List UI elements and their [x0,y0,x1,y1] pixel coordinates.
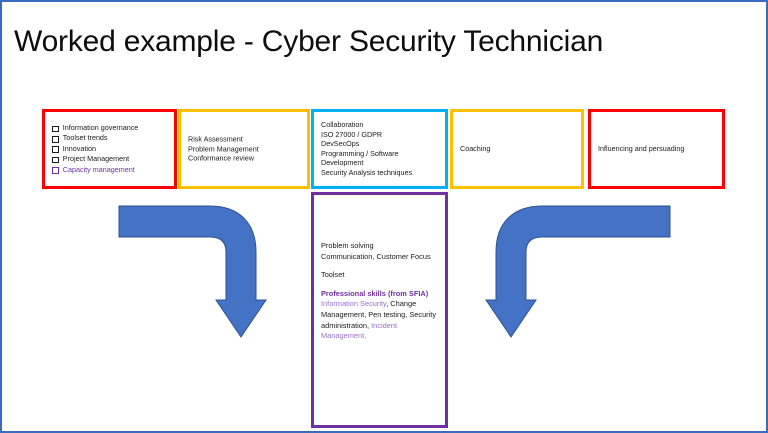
skill-box-collaboration[interactable]: Collaboration ISO 27000 / GDPR DevSecOps… [311,109,448,189]
core-skills-body: Problem solving Communication, Customer … [321,241,440,342]
list-item-label: Project Management [63,154,129,164]
list-item-label: Innovation [63,144,96,154]
text-line: Conformance review [188,154,302,164]
skill-box-1-body: Information governance Toolset trends In… [52,123,169,175]
sfia-skill-list: Information Security, Change Management,… [321,299,440,341]
skill-box-3-body: Collaboration ISO 27000 / GDPR DevSecOps… [321,120,440,178]
list-item: Toolset trends [52,133,169,143]
text-line: Influencing and persuading [598,144,717,154]
text-line: Coaching [460,144,576,154]
checkbox-icon [52,157,59,164]
spacer [321,262,440,270]
skill-box-4-body: Coaching [460,144,576,154]
core-skills-box[interactable]: Problem solving Communication, Customer … [311,192,448,428]
bent-arrow-down-right [484,202,674,362]
list-item-label: Information governance [63,123,139,133]
spacer [321,281,440,289]
checkbox-icon [52,126,59,133]
list-item-label: Toolset trends [63,133,108,143]
list-item: Innovation [52,144,169,154]
bent-arrow-down-left [115,202,267,362]
right-arrow-shape [486,206,670,337]
skill-box-5-body: Influencing and persuading [598,144,717,154]
skill-box-risk-assessment[interactable]: Risk Assessment Problem Management Confo… [178,109,310,189]
text-line: DevSecOps [321,139,440,149]
list-item-label: Capacity management [63,165,135,175]
list-item: Information governance [52,123,169,133]
text-line: Risk Assessment [188,135,302,145]
text-line-toolset: Toolset [321,270,440,281]
skill-box-2-body: Risk Assessment Problem Management Confo… [188,135,302,164]
checklist: Information governance Toolset trends In… [52,123,169,175]
skill-box-influencing-and-persuading[interactable]: Influencing and persuading [588,109,725,189]
skill-box-information-governance[interactable]: Information governance Toolset trends In… [42,109,177,189]
text-line: Communication, Customer Focus [321,252,440,263]
text-line: ISO 27000 / GDPR [321,130,440,140]
slide-canvas: Worked example - Cyber Security Technici… [0,0,768,433]
skill-box-coaching[interactable]: Coaching [450,109,584,189]
text-line: Problem solving [321,241,440,252]
sfia-heading: Professional skills (from SFIA) [321,289,440,300]
checkbox-icon [52,136,59,143]
text-line: Development [321,159,440,169]
checkbox-icon [52,167,59,174]
checkbox-icon [52,146,59,153]
left-arrow-shape [119,206,266,337]
text-line: Security Analysis techniques [321,168,440,178]
text-line: Programming / Software [321,149,440,159]
list-item: Project Management [52,154,169,164]
text-line: Problem Management [188,144,302,154]
page-title: Worked example - Cyber Security Technici… [14,24,754,60]
list-item-accent: Capacity management [52,165,169,175]
text-line: Collaboration [321,120,440,130]
sfia-segment-highlight: Information Security [321,299,386,308]
